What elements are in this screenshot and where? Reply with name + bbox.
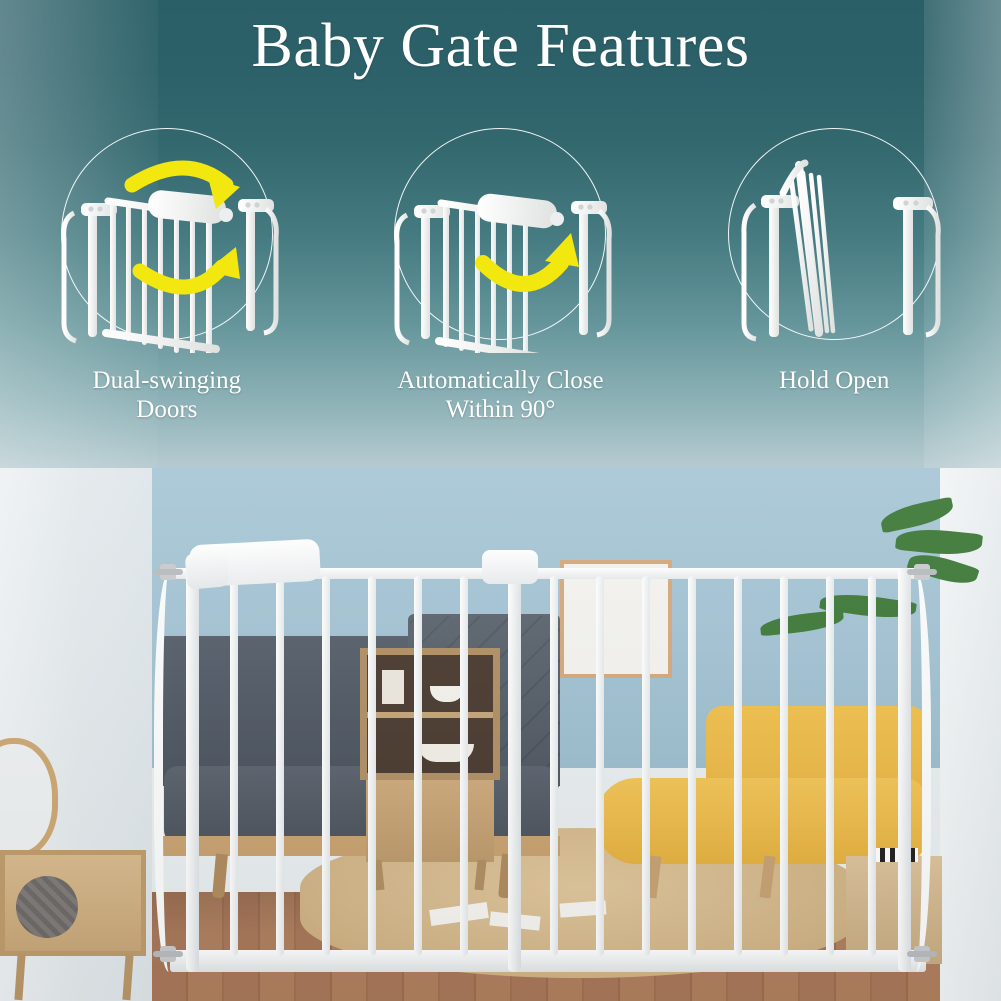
page-title: Baby Gate Features — [0, 8, 1001, 84]
gate-bar — [230, 576, 238, 956]
gate-bar — [322, 576, 330, 956]
baby-gate-hold-open-icon — [707, 143, 961, 353]
gate-bar — [596, 576, 604, 956]
baby-gate-product — [152, 568, 942, 1001]
cabinet-leg — [122, 954, 133, 1000]
feature-circle-2 — [394, 128, 606, 340]
gate-bar — [826, 576, 834, 956]
gate-bar — [460, 576, 468, 956]
baby-gate-dual-swing-icon — [40, 143, 294, 353]
infographic-page: Baby Gate Features — [0, 0, 1001, 1001]
product-photo — [0, 468, 1001, 1001]
gate-bar — [868, 576, 876, 956]
feature-automatically-close: Automatically Close Within 90° — [350, 128, 650, 424]
gate-bar — [734, 576, 742, 956]
plant-leaf — [895, 526, 983, 559]
feature-dual-swinging-doors: Dual-swinging Doors — [17, 128, 317, 424]
gate-center-post — [508, 568, 521, 972]
gate-bar — [368, 576, 376, 956]
baby-gate-auto-close-icon — [373, 143, 627, 353]
cabinet-circle-panel — [16, 876, 78, 938]
gate-bar — [688, 576, 696, 956]
feature-caption-3: Hold Open — [779, 366, 889, 395]
gate-bar — [550, 576, 558, 956]
feature-caption-1: Dual-swinging Doors — [93, 366, 242, 424]
caption-line-1: Dual-swinging — [93, 366, 242, 395]
wooden-cabinet — [0, 850, 152, 1001]
gate-bar — [780, 576, 788, 956]
gate-mounting-bolt — [160, 946, 176, 962]
caption-line-2: Doors — [93, 395, 242, 424]
plant-leaf — [879, 497, 956, 534]
feature-hold-open: Hold Open — [684, 128, 984, 395]
gate-bar — [642, 576, 650, 956]
gate-left-post — [186, 568, 199, 972]
caption-line-1: Hold Open — [779, 366, 889, 395]
feature-circle-1 — [61, 128, 273, 340]
caption-line-1: Automatically Close — [397, 366, 603, 395]
auto-close-arrow — [483, 233, 579, 284]
feature-circle-3 — [728, 128, 940, 340]
gate-bar — [276, 576, 284, 956]
gate-latch[interactable] — [482, 550, 538, 584]
gate-mounting-bolt — [160, 564, 176, 580]
gate-right-post — [898, 568, 911, 972]
caption-line-2: Within 90° — [397, 395, 603, 424]
gate-mounting-bolt — [914, 946, 930, 962]
feature-list: Dual-swinging Doors — [0, 128, 1001, 458]
gate-bar — [414, 576, 422, 956]
cabinet-leg — [14, 954, 25, 1000]
feature-caption-2: Automatically Close Within 90° — [397, 366, 603, 424]
gate-handle-knob[interactable] — [185, 550, 230, 590]
gate-mounting-bolt — [914, 564, 930, 580]
